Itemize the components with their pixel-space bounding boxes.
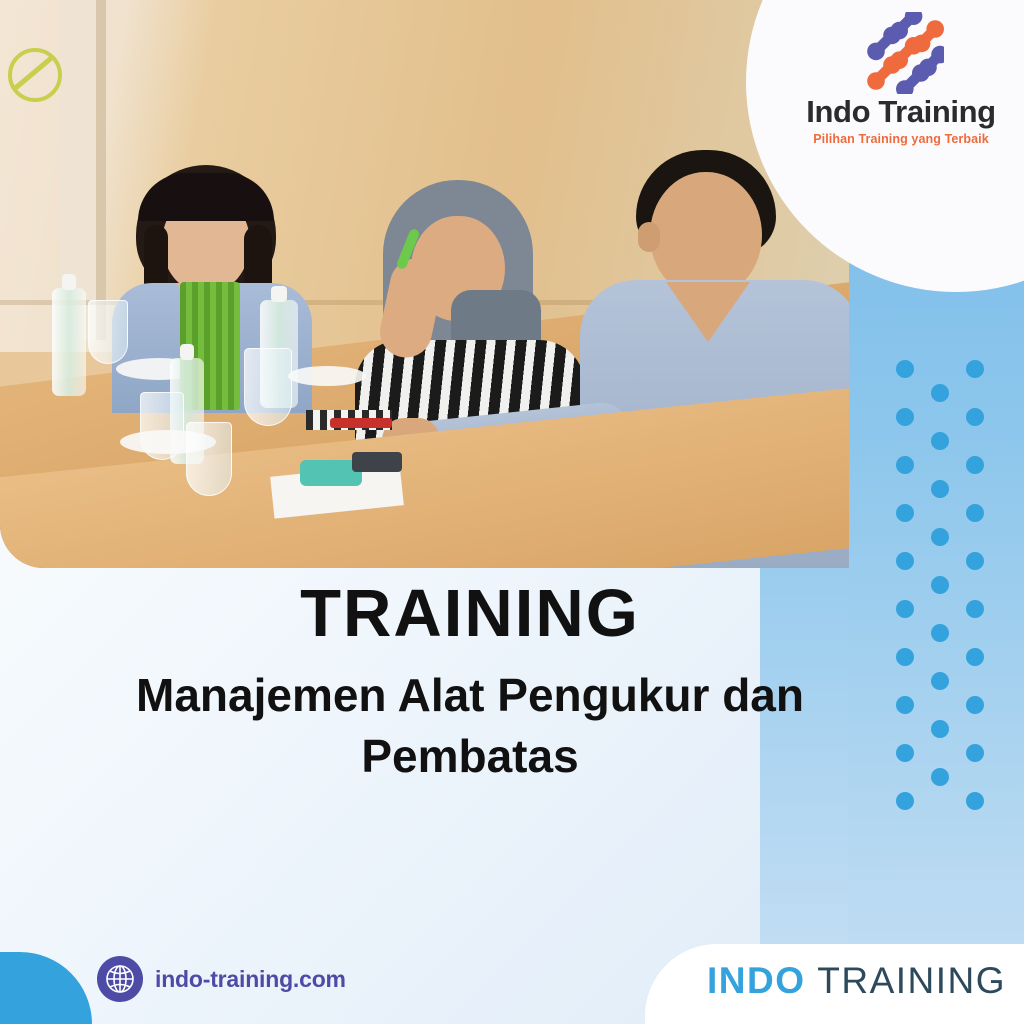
photo-glass: [88, 300, 128, 364]
photo-door-frame: [96, 0, 106, 340]
brand-footer-panel: INDO TRAINING: [645, 944, 1024, 1024]
photo-plate: [288, 366, 366, 386]
dot-pattern-decoration: [896, 360, 992, 820]
brand-indo-text: INDO: [707, 960, 806, 1001]
photo-glass: [186, 422, 232, 496]
website-url-text: indo-training.com: [155, 966, 346, 993]
brand-training-text: TRAINING: [817, 960, 1006, 1001]
indo-training-logo: Indo Training Pilihan Training yang Terb…: [790, 12, 1012, 162]
headline-title: Manajemen Alat Pengukur dan Pembatas: [40, 665, 900, 787]
photo-phone: [352, 452, 402, 472]
logo-tagline: Pilihan Training yang Terbaik: [790, 132, 1012, 146]
photo-bottle: [52, 288, 86, 396]
training-room-photo: [0, 0, 849, 568]
photo-glass: [244, 348, 292, 426]
connected-nodes-icon: [864, 12, 944, 94]
photo-pen: [330, 418, 392, 428]
website-link[interactable]: indo-training.com: [97, 956, 346, 1002]
brand-footer-text: INDO TRAINING: [707, 960, 1006, 1002]
poster-canvas: Indo Training Pilihan Training yang Terb…: [0, 0, 1024, 1024]
headline-block: TRAINING Manajemen Alat Pengukur dan Pem…: [40, 578, 900, 787]
logo-wordmark: Indo Training: [790, 96, 1012, 127]
no-smoking-icon: [8, 48, 62, 102]
globe-icon: [97, 956, 143, 1002]
headline-eyebrow: TRAINING: [40, 578, 900, 649]
corner-accent-shape: [0, 952, 92, 1024]
